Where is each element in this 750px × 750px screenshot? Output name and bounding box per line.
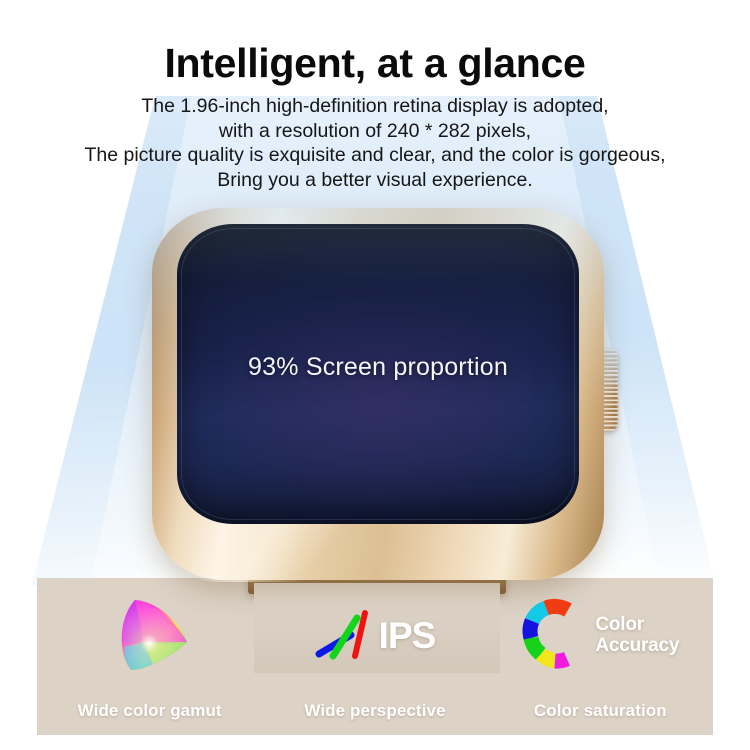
color-accuracy-badge-text: Color Accuracy [595,614,679,656]
feature-wide-perspective: IPS Wide perspective [262,578,487,735]
description-line: The 1.96-inch high-definition retina dis… [0,94,750,119]
feature-label: Wide perspective [304,701,445,721]
page-title: Intelligent, at a glance [0,40,750,87]
ips-icon-group: IPS [262,592,487,678]
color-accuracy-line1: Color [595,614,644,635]
product-feature-page: Intelligent, at a glance The 1.96-inch h… [0,0,750,750]
color-gamut-icon [37,592,262,678]
feature-list: Wide color gamut IPS Wide perspective [37,578,713,735]
color-accuracy-ring-icon [521,598,589,672]
watch-screen: 93% Screen proportion [177,224,579,524]
description-line: The picture quality is exquisite and cle… [0,143,750,168]
description-line: Bring you a better visual experience. [0,168,750,193]
feature-wide-color-gamut: Wide color gamut [37,578,262,735]
ips-rays-icon [315,604,377,666]
feature-color-saturation: Color Accuracy Color saturation [488,578,713,735]
color-accuracy-line2: Accuracy [595,635,679,656]
description-line: with a resolution of 240 * 282 pixels, [0,119,750,144]
screen-proportion-text: 93% Screen proportion [177,353,579,382]
feature-label: Wide color gamut [78,701,222,721]
color-accuracy-icon-group: Color Accuracy [488,592,713,678]
description-block: The 1.96-inch high-definition retina dis… [0,94,750,192]
feature-label: Color saturation [534,701,667,721]
ips-badge-text: IPS [379,617,436,654]
